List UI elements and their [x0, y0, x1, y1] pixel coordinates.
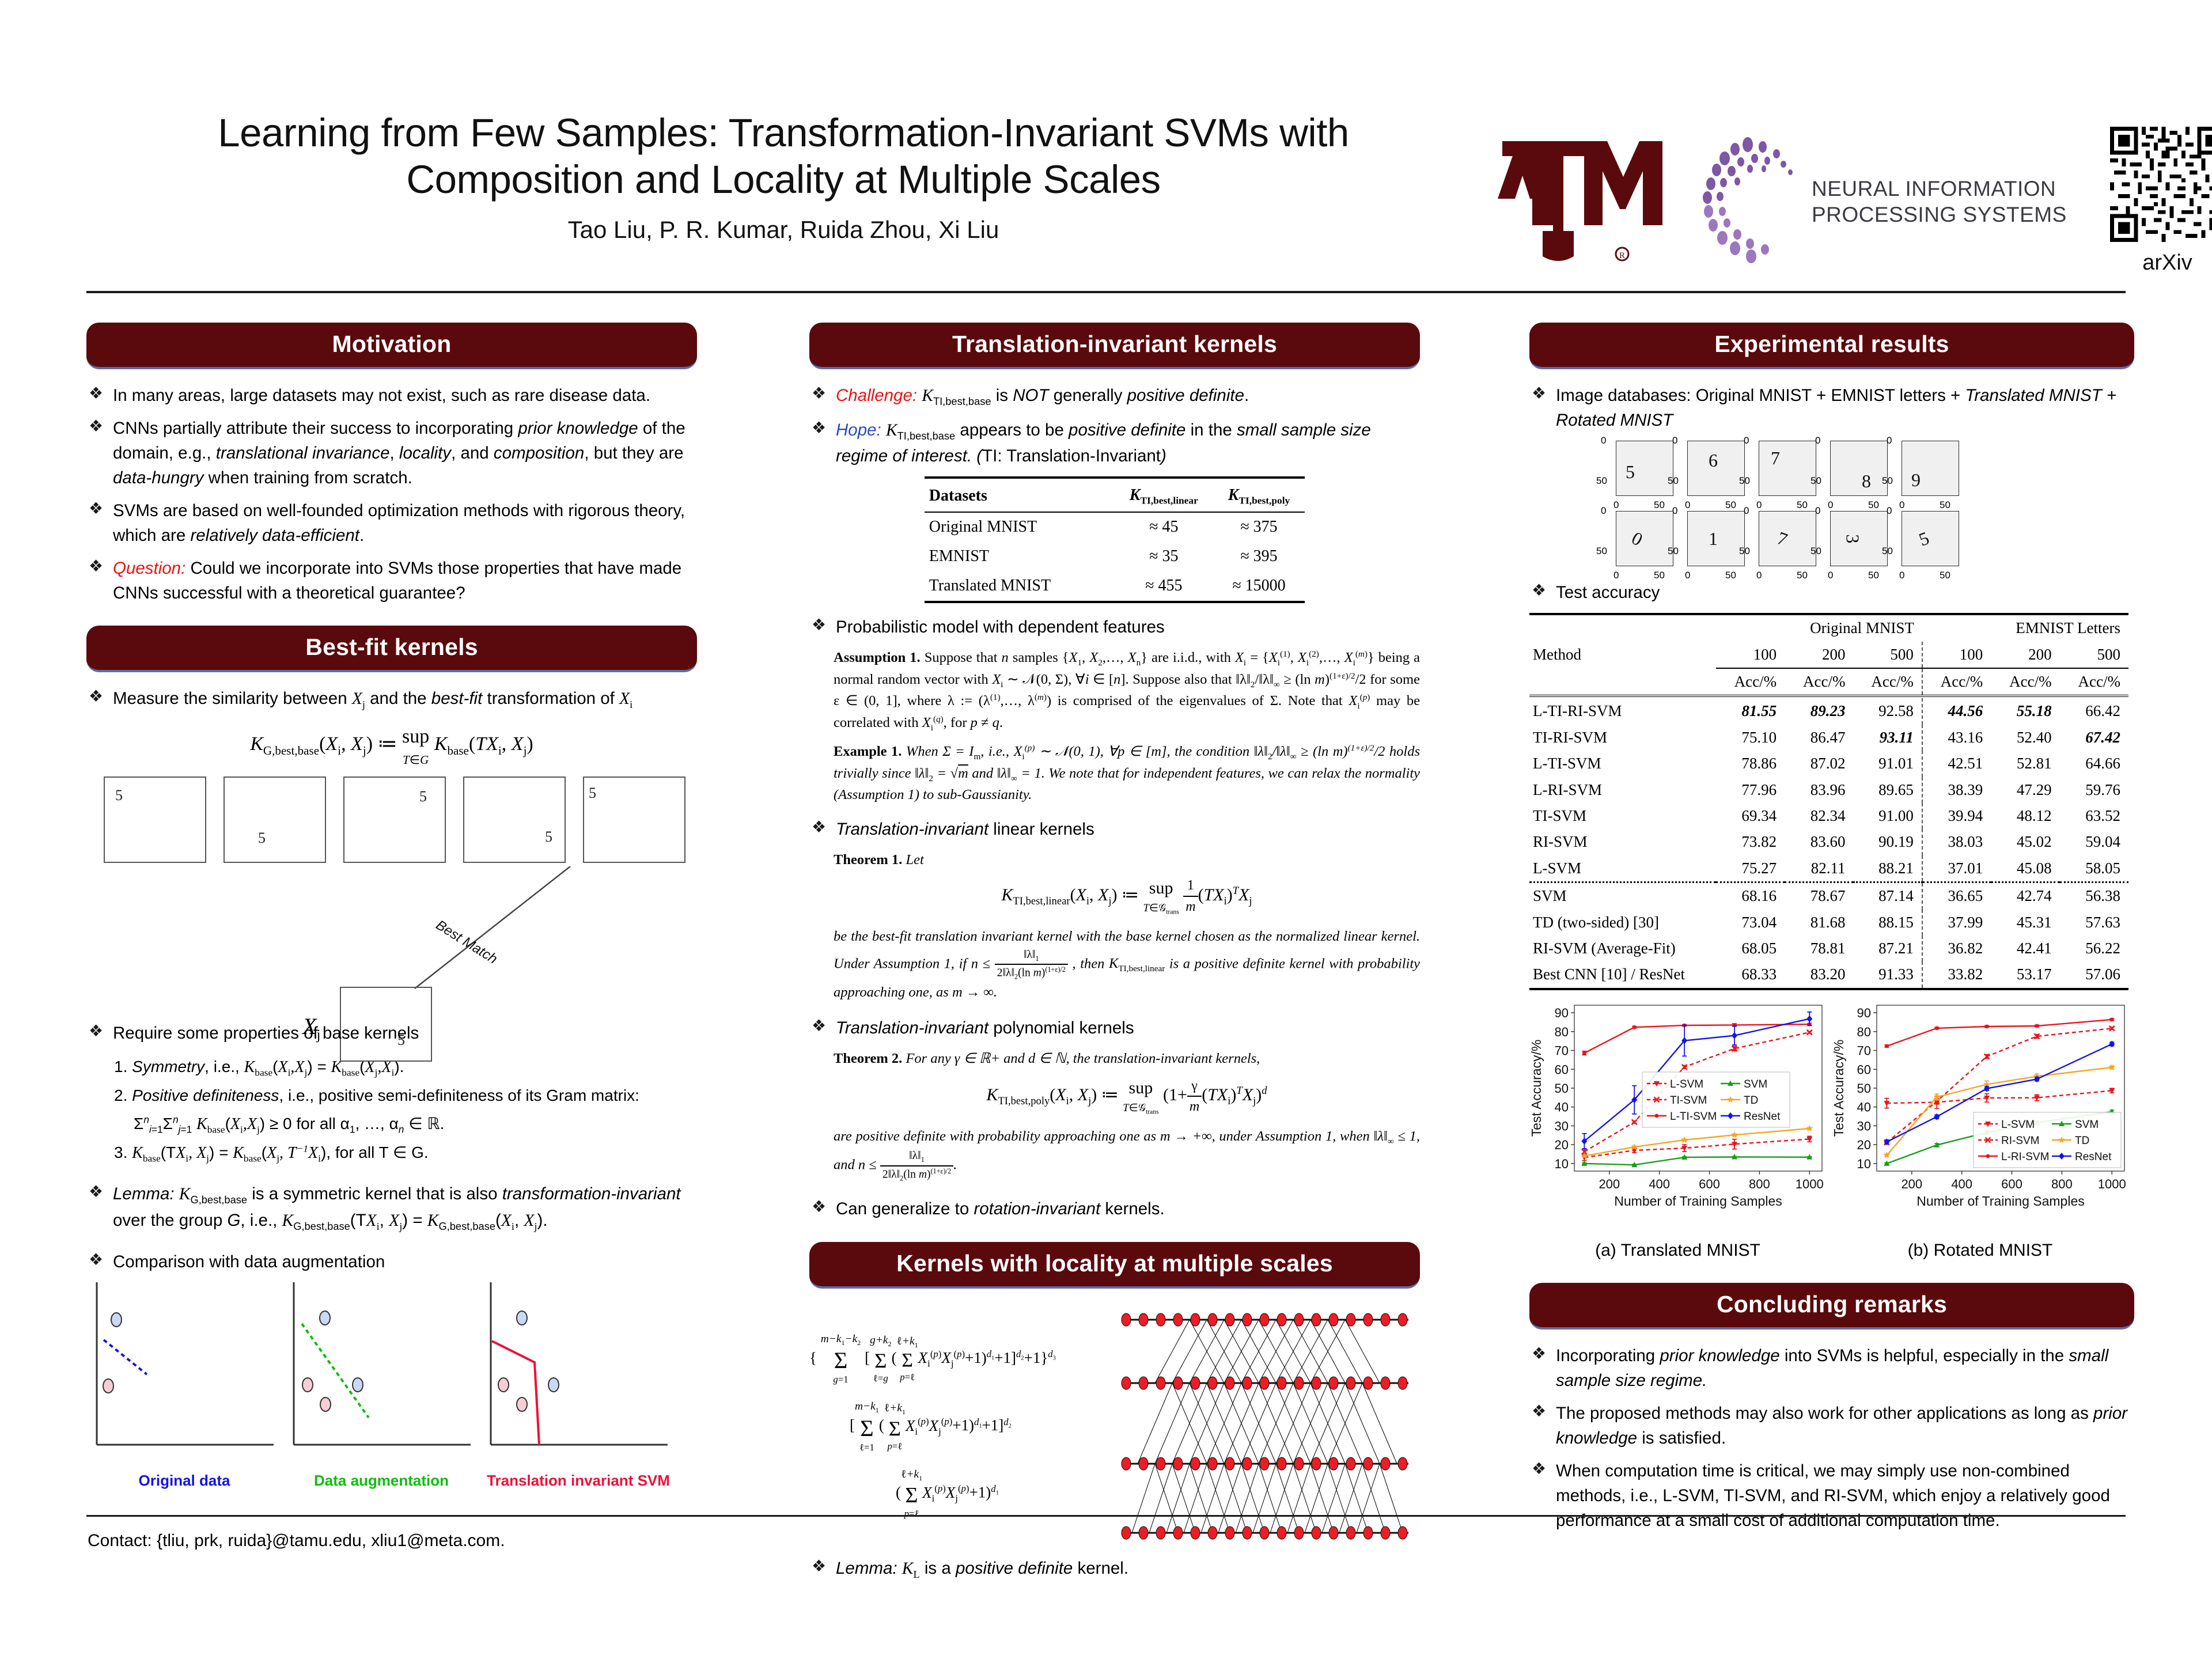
table-row: SVM68.1678.6787.1436.6542.7456.38 [1529, 882, 2128, 910]
svg-text:40: 40 [1555, 1100, 1569, 1115]
motivation-bullet-2: CNNs partially attribute their success t… [86, 416, 697, 490]
neurips-wordmark: NEURAL INFORMATION PROCESSING SYSTEMS [1812, 176, 2067, 228]
svg-text:30: 30 [1857, 1119, 1871, 1133]
motivation-bullet-3: SVMs are based on well-founded optimizat… [86, 498, 697, 548]
table-row: TD (two-sided) [30]73.0481.6888.1537.994… [1529, 910, 2128, 935]
svg-text:R: R [1619, 251, 1625, 260]
chart-rotated-svg: 1020304050607080902004006008001000Test A… [1832, 998, 2128, 1229]
property-2: 2. Positive definiteness, i.e., positive… [114, 1083, 697, 1109]
mnist-thumbnail-row-2: 0500050 0501050 0507050 0503050 0505050 [1616, 511, 2134, 566]
compare-caption-augmentation: Data augmentation [289, 1470, 474, 1492]
locality-eq-1: { m−k1−k2Σg=1 [g+k2Σℓ=g(ℓ+k1Σp=ℓXi(p)Xj(… [809, 1333, 1120, 1386]
contact-info: Contact: {tliu, prk, ruida}@tamu.edu, xl… [88, 1531, 505, 1551]
neurips-logo: NEURAL INFORMATION PROCESSING SYSTEMS [1699, 135, 2103, 268]
table-row: TI-SVM69.3482.3491.0039.9448.1263.52 [1529, 803, 2128, 829]
table-row: L-TI-RI-SVM81.5589.2392.5844.5655.1866.4… [1529, 698, 2128, 724]
property-3: 3. Kbase(TXi, Xj) = Kbase(Xj, T−1Xi), fo… [114, 1140, 697, 1166]
compare-plot-original [92, 1282, 276, 1455]
author-list: Tao Liu, P. R. Kumar, Ruida Zhou, Xi Liu [86, 216, 1480, 244]
locality-lemma-list: Lemma: KL is a positive definite kernel. [809, 1556, 1420, 1582]
assumption-1: Assumption 1. Suppose that n samples {X1… [834, 647, 1420, 734]
svg-text:400: 400 [1649, 1177, 1670, 1191]
chart-rotated: 1020304050607080902004006008001000Test A… [1832, 998, 2128, 1263]
prob-model-bullet: Probabilistic model with dependent featu… [809, 615, 1420, 639]
svg-text:20: 20 [1857, 1138, 1871, 1152]
theorem1-formula: KTI,best,linear(Xi, Xj) ≔ supT∈𝒢trans 1m… [834, 876, 1420, 917]
table-row: RI-SVM (Average-Fit)68.0578.8187.2136.82… [1529, 935, 2128, 961]
databases-bullet: Image databases: Original MNIST + EMNIST… [1529, 383, 2134, 433]
svg-text:L-SVM: L-SVM [1670, 1078, 1703, 1090]
column-middle: Translation-invariant kernels Challenge:… [809, 323, 1420, 1590]
texas-am-logo: R [1498, 130, 1671, 268]
column-left: Motivation In many areas, large datasets… [86, 323, 697, 1492]
pd-col-poly: KTI,best,poly [1213, 478, 1305, 511]
bestfit-bullet-require: Require some properties of base kernels [86, 1021, 697, 1046]
motivation-body: In many areas, large datasets may not ex… [86, 383, 697, 606]
table-row: RI-SVM73.8283.6090.1938.0345.0259.04 [1529, 829, 2128, 855]
svg-text:80: 80 [1857, 1025, 1871, 1039]
compare-plot-augmentation [289, 1282, 474, 1455]
svg-text:800: 800 [1749, 1177, 1770, 1191]
translation-hope: Hope: KTI,best,base appears to be positi… [809, 418, 1420, 469]
translation-body: Challenge: KTI,best,base is NOT generall… [809, 383, 1420, 1221]
footer-divider [86, 1515, 2126, 1517]
concluding-body: Incorporating prior knowledge into SVMs … [1529, 1343, 2134, 1533]
svg-text:TD: TD [2075, 1135, 2089, 1147]
svg-text:70: 70 [1555, 1043, 1569, 1058]
locality-body: { m−k1−k2Σg=1 [g+k2Σℓ=g(ℓ+k1Σp=ℓXi(p)Xj(… [809, 1302, 1420, 1550]
base-kernel-properties: 1. Symmetry, i.e., Kbase(Xi,Xj) = Kbase(… [86, 1054, 697, 1167]
experimental-body: Image databases: Original MNIST + EMNIST… [1529, 383, 2134, 1263]
generalize-bullet: Can generalize to rotation-invariant ker… [809, 1196, 1420, 1221]
theorem2-formula: KTI,best,poly(Xi, Xj) ≔ supT∈𝒢trans (1+γ… [834, 1075, 1420, 1117]
locality-eq-3: (ℓ+k1Σp=ℓXi(p)Xj(p)+1)d1 [896, 1468, 1120, 1520]
svg-text:TI-SVM: TI-SVM [1670, 1094, 1707, 1107]
pd-row: Original MNIST ≈ 45 ≈ 375 [925, 512, 1305, 542]
mnist-thumb: 0505050 [1902, 511, 1969, 566]
svg-text:ResNet: ResNet [1744, 1111, 1781, 1123]
poster-header: Learning from Few Samples: Transformatio… [0, 0, 2212, 294]
pd-row: EMNIST ≈ 35 ≈ 395 [925, 542, 1305, 571]
compare-panel-tisvm: Translation invariant SVM [486, 1282, 671, 1492]
section-header-concluding: Concluding remarks [1529, 1283, 2134, 1330]
augmentation-comparison: Original data Data augmentation [92, 1282, 697, 1492]
results-group-header: Original MNIST EMNIST Letters [1529, 615, 2128, 641]
compare-plot-tisvm [486, 1282, 671, 1455]
table-row: L-RI-SVM77.9683.9689.6538.3947.2959.76 [1529, 777, 2128, 803]
theorem2-block: Theorem 2. For any γ ∈ ℝ+ and d ∈ ℕ, the… [834, 1048, 1420, 1184]
best-match-diagram: Best Match 5 Xj [86, 863, 697, 1018]
pd-row: Translated MNIST ≈ 455 ≈ 15000 [925, 571, 1305, 601]
group-original-mnist: Original MNIST [1716, 615, 1922, 641]
svg-text:40: 40 [1857, 1100, 1871, 1115]
kernel-box-best: 5 [463, 777, 566, 863]
section-header-motivation: Motivation [86, 323, 697, 369]
svg-text:Number of Training Samples: Number of Training Samples [1916, 1194, 2084, 1209]
motivation-bullet-4: Question: Could we incorporate into SVMs… [86, 556, 697, 605]
svg-text:200: 200 [1901, 1177, 1922, 1191]
bestfit-formula: KG,best,base(Xi, Xj) ≔ supT∈G Kbase(TXi,… [86, 722, 697, 768]
header-divider [86, 291, 2126, 293]
locality-lemma: Lemma: KL is a positive definite kernel. [809, 1556, 1420, 1582]
group-emnist-letters: EMNIST Letters [1922, 615, 2128, 641]
results-size-header: Method 100 200 500 100 200 500 [1529, 642, 2128, 668]
locality-eq-2: [m−k1Σℓ=1(ℓ+k1Σp=ℓXi(p)Xj(p)+1)d1+1]d2 [850, 1400, 1120, 1453]
svg-text:600: 600 [2001, 1177, 2022, 1191]
kernel-box: 5 [224, 777, 326, 863]
svg-text:L-SVM: L-SVM [2001, 1119, 2035, 1131]
pd-col-datasets: Datasets [925, 478, 1115, 511]
column-right: Experimental results Image databases: Or… [1529, 323, 2134, 1541]
example-1: Example 1. When Σ = Im, i.e., Xi(p) ∼ 𝒩(… [834, 741, 1420, 805]
svg-text:L-RI-SVM: L-RI-SVM [2001, 1151, 2049, 1163]
section-header-translation: Translation-invariant kernels [809, 323, 1420, 369]
svg-text:Test Accuracy/%: Test Accuracy/% [1529, 1040, 1544, 1137]
chart-translated-svg: 1020304050607080902004006008001000Test A… [1529, 998, 1826, 1229]
kernel-transform-row: 5 5 5 5 5 [104, 777, 685, 863]
svg-text:TD: TD [1744, 1094, 1758, 1107]
bestfit-lemma: Lemma: KG,best,base is a symmetric kerne… [86, 1181, 697, 1234]
svg-text:1000: 1000 [1796, 1177, 1824, 1191]
results-unit-header: Acc/% Acc/% Acc/% Acc/% Acc/% Acc/% [1529, 668, 2128, 696]
title-line-1: Learning from Few Samples: Transformatio… [218, 111, 1349, 155]
page-title: Learning from Few Samples: Transformatio… [86, 109, 1480, 203]
compare-caption-original: Original data [92, 1470, 276, 1492]
svg-text:10: 10 [1857, 1157, 1871, 1171]
svg-text:50: 50 [1857, 1081, 1871, 1096]
pd-threshold-table: Datasets KTI,best,linear KTI,best,poly O… [925, 476, 1305, 603]
svg-text:60: 60 [1555, 1062, 1569, 1077]
qr-block: arXiv [2108, 127, 2212, 275]
svg-text:600: 600 [1699, 1177, 1720, 1191]
svg-text:RI-SVM: RI-SVM [2001, 1135, 2040, 1147]
ti-linear-bullet: Translation-invariant linear kernels [809, 817, 1420, 842]
concluding-bullet-2: The proposed methods may also work for o… [1529, 1401, 2134, 1450]
bestfit-bullet-comparison: Comparison with data augmentation [86, 1249, 697, 1274]
svg-text:Test Accuracy/%: Test Accuracy/% [1832, 1040, 1846, 1137]
neurips-line-1: NEURAL INFORMATION [1812, 176, 2067, 202]
results-method-header: Method [1529, 642, 1716, 668]
svg-text:90: 90 [1555, 1006, 1569, 1020]
test-accuracy-bullet: Test accuracy [1529, 580, 2134, 605]
theorem2-text: are positive definite with probability a… [834, 1126, 1420, 1184]
svg-text:20: 20 [1555, 1138, 1569, 1152]
locality-network-diagram [1120, 1302, 1420, 1550]
svg-text:1000: 1000 [2098, 1177, 2126, 1191]
svg-text:ResNet: ResNet [2075, 1151, 2112, 1163]
svg-text:30: 30 [1555, 1119, 1569, 1133]
property-2-formula: Σni=1Σnj=1 Kbase(Xi,Xj) ≥ 0 for all α1, … [114, 1111, 697, 1138]
pd-col-linear: KTI,best,linear [1115, 478, 1213, 511]
neurips-swirl-icon [1699, 135, 1803, 268]
qr-code-icon[interactable] [2110, 127, 2212, 242]
table-row: TI-RI-SVM75.1086.4793.1143.1652.4067.42 [1529, 725, 2128, 751]
compare-panel-original: Original data [92, 1282, 276, 1492]
table-row: Best CNN [10] / ResNet68.3383.2091.3333.… [1529, 961, 2128, 988]
translation-challenge: Challenge: KTI,best,base is NOT generall… [809, 383, 1420, 410]
motivation-bullet-1: In many areas, large datasets may not ex… [86, 383, 697, 408]
arxiv-label: arXiv [2108, 251, 2212, 275]
section-header-bestfit: Best-fit kernels [86, 626, 697, 672]
mnist-thumb: 0509050 [1902, 441, 1969, 496]
bestfit-body: Measure the similarity between Xj and th… [86, 686, 697, 1492]
accuracy-charts: 1020304050607080902004006008001000Test A… [1529, 998, 2134, 1263]
svg-text:SVM: SVM [2075, 1119, 2099, 1131]
svg-text:400: 400 [1951, 1177, 1972, 1191]
concluding-bullet-1: Incorporating prior knowledge into SVMs … [1529, 1343, 2134, 1393]
svg-text:80: 80 [1555, 1025, 1569, 1039]
svg-text:L-TI-SVM: L-TI-SVM [1670, 1111, 1717, 1123]
title-block: Learning from Few Samples: Transformatio… [86, 109, 1480, 244]
chart-caption-b: (b) Rotated MNIST [1832, 1238, 2128, 1263]
neurips-line-2: PROCESSING SYSTEMS [1812, 202, 2067, 228]
chart-translated: 1020304050607080902004006008001000Test A… [1529, 998, 1826, 1263]
svg-text:10: 10 [1555, 1157, 1569, 1171]
svg-text:90: 90 [1857, 1006, 1871, 1020]
svg-text:SVM: SVM [1744, 1078, 1767, 1090]
title-line-2: Composition and Locality at Multiple Sca… [406, 157, 1160, 202]
results-tbody: L-TI-RI-SVM81.5589.2392.5844.5655.1866.4… [1529, 698, 2128, 990]
chart-caption-a: (a) Translated MNIST [1529, 1238, 1826, 1263]
svg-text:Number of Training Samples: Number of Training Samples [1614, 1194, 1782, 1209]
mnist-thumbnail-row-1: 0505050 0506050 0507050 0508050 0509050 [1616, 441, 2134, 496]
section-header-experimental: Experimental results [1529, 323, 2134, 369]
ti-poly-bullet: Translation-invariant polynomial kernels [809, 1016, 1420, 1040]
bestfit-bullet-measure: Measure the similarity between Xj and th… [86, 686, 697, 713]
concluding-bullet-3: When computation time is critical, we ma… [1529, 1459, 2134, 1533]
theorem1-text: be the best-fit translation invariant ke… [834, 926, 1420, 1003]
section-header-locality: Kernels with locality at multiple scales [809, 1242, 1420, 1289]
table-row: L-TI-SVM78.8687.0291.0142.5152.8164.66 [1529, 751, 2128, 777]
svg-text:60: 60 [1857, 1062, 1871, 1077]
results-table: Original MNIST EMNIST Letters Method 100… [1529, 613, 2128, 990]
assumption-block: Assumption 1. Suppose that n samples {X1… [834, 647, 1420, 805]
svg-text:800: 800 [2051, 1177, 2073, 1191]
theorem1-block: Theorem 1. Let KTI,best,linear(Xi, Xj) ≔… [834, 850, 1420, 1003]
svg-text:70: 70 [1857, 1043, 1871, 1058]
kernel-box: 5 [343, 777, 446, 863]
compare-caption-tisvm: Translation invariant SVM [486, 1470, 671, 1492]
svg-text:50: 50 [1555, 1081, 1569, 1096]
svg-text:200: 200 [1599, 1177, 1620, 1191]
compare-panel-augmentation: Data augmentation [289, 1282, 474, 1492]
kernel-box: 5 [104, 777, 206, 863]
kernel-box: 5 [583, 777, 685, 863]
locality-equations: { m−k1−k2Σg=1 [g+k2Σℓ=g(ℓ+k1Σp=ℓXi(p)Xj(… [809, 1318, 1120, 1535]
table-row: L-SVM75.2782.1188.2137.0145.0858.05 [1529, 855, 2128, 882]
logo-row: R [1498, 124, 2177, 285]
